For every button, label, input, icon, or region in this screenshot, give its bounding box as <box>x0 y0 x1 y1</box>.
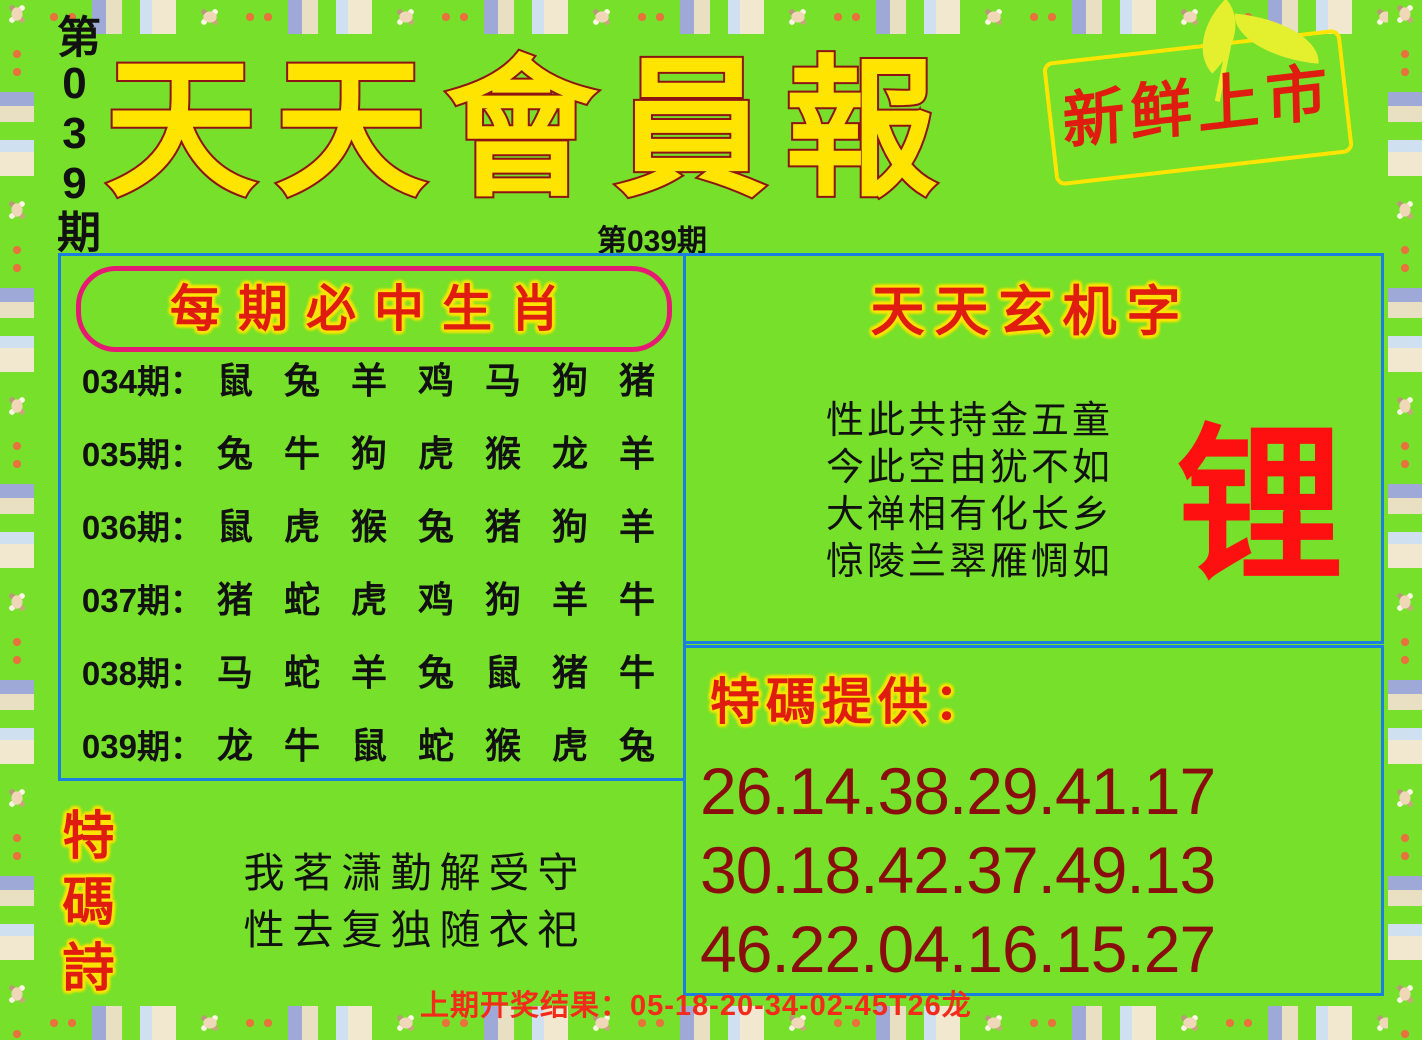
border-right <box>1388 0 1422 1040</box>
tema-poem-line: 我茗潇勤解受守 <box>200 845 630 902</box>
tema-poem-label: 特碼詩 <box>50 808 114 1006</box>
zodiac-row: 037期： 猪 蛇 虎 鸡 狗 羊 牛 <box>76 571 666 644</box>
border-pattern-right <box>1388 0 1422 1040</box>
page-title: 天天會員報 <box>105 36 1055 221</box>
zodiac-row: 034期： 鼠 兔 羊 鸡 马 狗 猪 <box>76 352 666 425</box>
border-left <box>0 0 34 1040</box>
zodiac-pill-title: 每期必中生肖 <box>81 271 667 347</box>
xuanji-poem-line: 性此共持金五童 <box>826 398 1186 445</box>
zodiac-row: 039期： 龙 牛 鼠 蛇 猴 虎 兔 <box>76 717 666 790</box>
tema-poem-line: 性去复独随衣祀 <box>200 902 630 959</box>
zodiac-row-animals: 马 蛇 羊 兔 鼠 猪 牛 <box>203 644 666 696</box>
tema-number-row: 46.22.04.16.15.27 <box>700 910 1372 989</box>
tema-poem: 我茗潇勤解受守 性去复独随衣祀 <box>200 845 630 959</box>
xuanji-big-character: 锂 <box>1160 415 1360 595</box>
tema-number-rows: 26.14.38.29.41.17 30.18.42.37.49.13 46.2… <box>700 752 1372 989</box>
zodiac-row-animals: 鼠 虎 猴 兔 猪 狗 羊 <box>203 498 666 550</box>
zodiac-row-animals: 猪 蛇 虎 鸡 狗 羊 牛 <box>203 571 666 623</box>
zodiac-row-issue: 034期： <box>76 355 203 403</box>
zodiac-row-issue: 039期： <box>76 720 203 768</box>
zodiac-row-animals: 龙 牛 鼠 蛇 猴 虎 兔 <box>203 717 666 769</box>
xuanji-poem-line: 惊陵兰翠雁惆如 <box>826 539 1186 586</box>
zodiac-pill-frame: 每期必中生肖 <box>76 266 672 352</box>
xuanji-title: 天天玄机字 <box>683 278 1378 344</box>
tema-number-row: 26.14.38.29.41.17 <box>700 752 1372 831</box>
zodiac-row: 035期： 兔 牛 狗 虎 猴 龙 羊 <box>76 425 666 498</box>
tema-number-row: 30.18.42.37.49.13 <box>700 831 1372 910</box>
zodiac-row-issue: 038期： <box>76 647 203 695</box>
zodiac-row: 036期： 鼠 虎 猴 兔 猪 狗 羊 <box>76 498 666 571</box>
zodiac-row-animals: 鼠 兔 羊 鸡 马 狗 猪 <box>203 352 666 404</box>
tema-heading: 特碼提供： <box>710 672 990 732</box>
zodiac-row-animals: 兔 牛 狗 虎 猴 龙 羊 <box>203 425 666 477</box>
border-pattern-left <box>0 0 34 1040</box>
zodiac-row-issue: 036期： <box>76 501 203 549</box>
last-draw-result: 上期开奖结果：05-18-20-34-02-45T26龙 <box>420 982 972 1024</box>
zodiac-row: 038期： 马 蛇 羊 兔 鼠 猪 牛 <box>76 644 666 717</box>
xuanji-poem-line: 大禅相有化长乡 <box>826 492 1186 539</box>
xuanji-poem: 性此共持金五童 今此空由犹不如 大禅相有化长乡 惊陵兰翠雁惆如 <box>826 398 1186 586</box>
zodiac-rows: 034期： 鼠 兔 羊 鸡 马 狗 猪 035期： 兔 牛 狗 虎 猴 龙 羊 … <box>76 352 666 790</box>
fresh-badge: 新鲜上市 <box>1042 28 1354 186</box>
issue-label-vertical: 第039期 <box>38 14 96 254</box>
xuanji-poem-line: 今此空由犹不如 <box>826 445 1186 492</box>
zodiac-row-issue: 037期： <box>76 574 203 622</box>
zodiac-row-issue: 035期： <box>76 428 203 476</box>
poster-page: 第039期 天天會員報 第039期 新鲜上市 每期必中生肖 034期： 鼠 兔 … <box>0 0 1422 1040</box>
